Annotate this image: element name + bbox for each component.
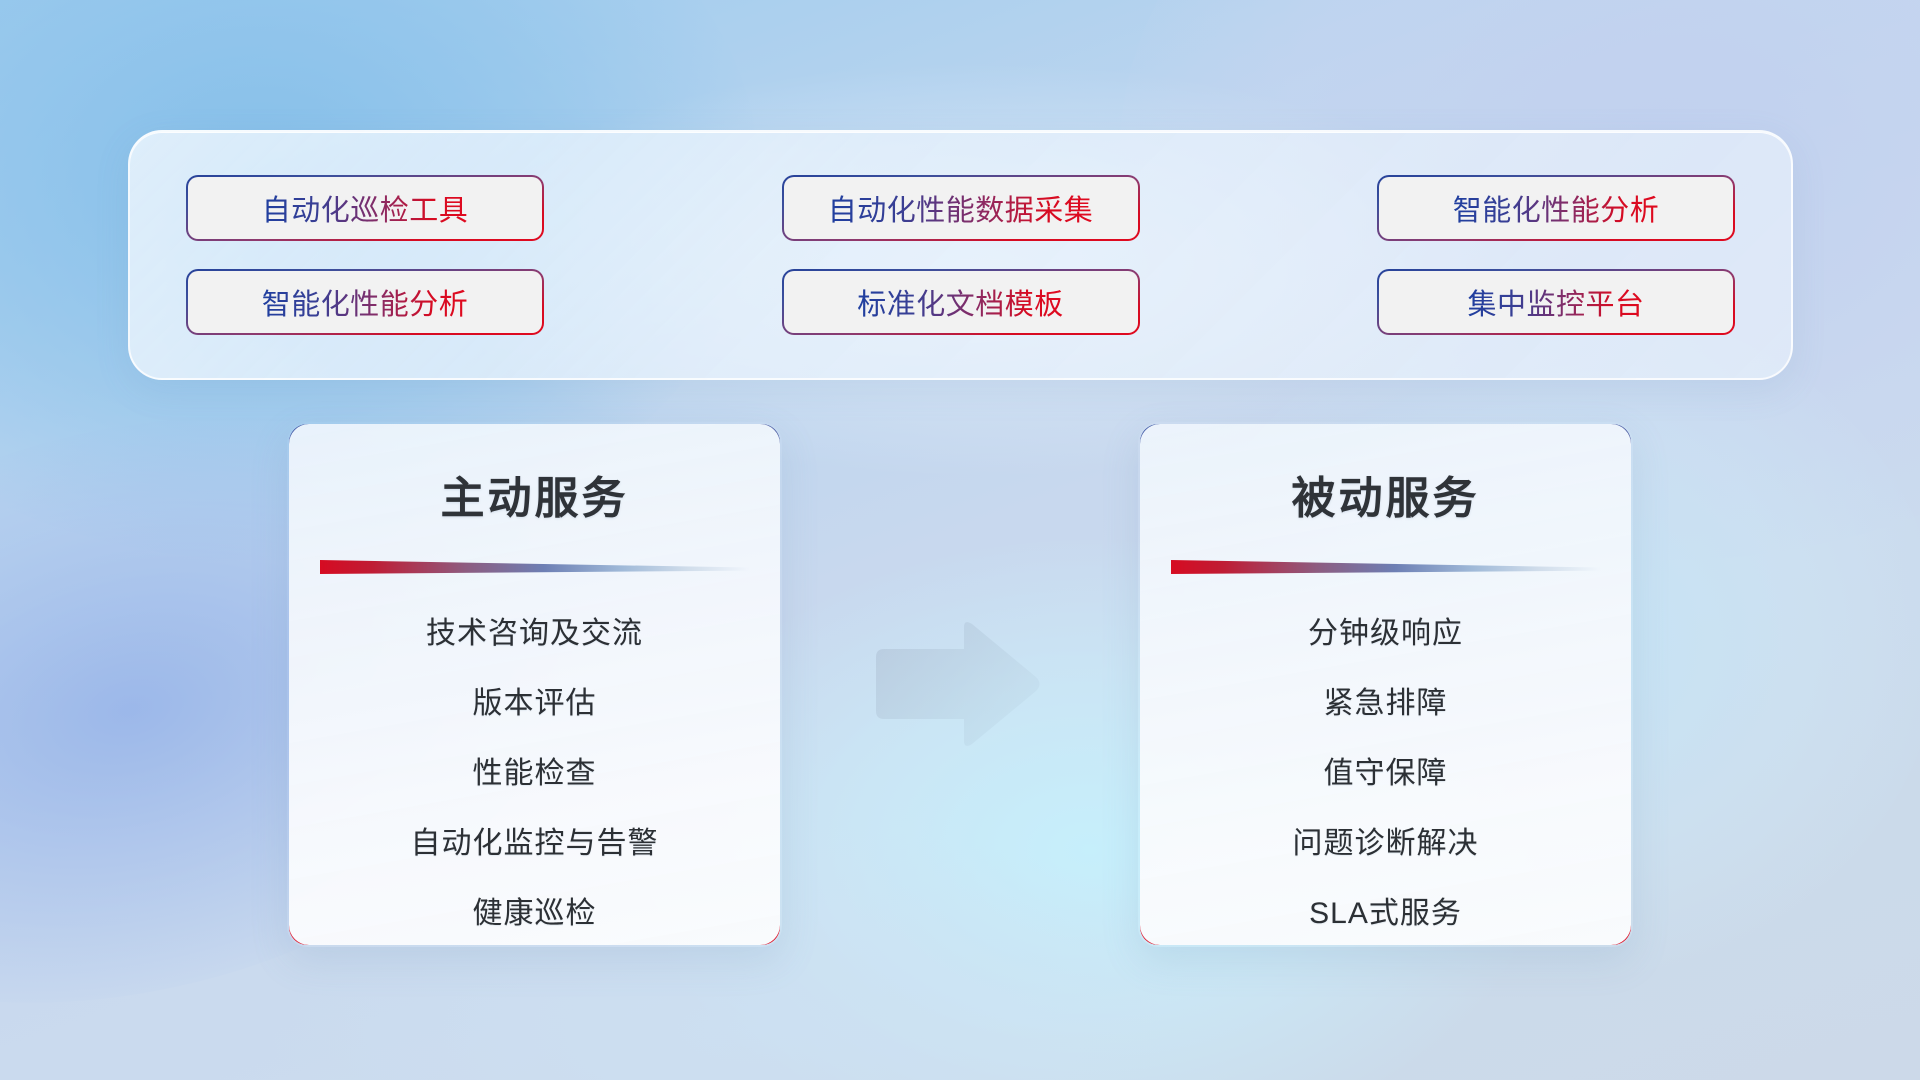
list-item: 值守保障 <box>1324 748 1448 792</box>
capability-tag-auto-perf-collection[interactable]: 自动化性能数据采集 <box>782 175 1140 241</box>
card-title-rule <box>320 560 750 574</box>
capability-tag-smart-perf-analysis[interactable]: 智能化性能分析 <box>1377 175 1735 241</box>
capability-tag-label: 标准化文档模板 <box>857 281 1064 323</box>
list-item: 自动化监控与告警 <box>411 818 659 862</box>
service-card-reactive[interactable]: 被动服务 分钟级响应 紧急排障 值守保障 问题诊断解决 SLA式服务 <box>1138 422 1633 947</box>
card-title: 主动服务 <box>319 462 750 526</box>
capability-row-2: 智能化性能分析 标准化文档模板 集中监控平台 <box>186 269 1735 335</box>
card-item-list: 分钟级响应 紧急排障 值守保障 问题诊断解决 SLA式服务 <box>1170 608 1601 932</box>
capability-tag-label: 自动化性能数据采集 <box>828 187 1094 229</box>
capability-tag-central-monitoring[interactable]: 集中监控平台 <box>1377 269 1735 335</box>
list-item: 技术咨询及交流 <box>426 608 643 652</box>
list-item: 问题诊断解决 <box>1293 818 1479 862</box>
capability-row-1: 自动化巡检工具 自动化性能数据采集 智能化性能分析 <box>186 175 1735 241</box>
flow-arrow <box>872 619 1042 749</box>
service-card-proactive[interactable]: 主动服务 技术咨询及交流 版本评估 性能检查 自动化监控与告警 健康巡检 <box>287 422 782 947</box>
card-title-rule <box>1171 560 1601 574</box>
list-item: SLA式服务 <box>1309 888 1462 932</box>
list-item: 紧急排障 <box>1324 678 1448 722</box>
capability-tag-label: 智能化性能分析 <box>262 281 469 323</box>
list-item: 分钟级响应 <box>1308 608 1463 652</box>
capability-tag-smart-perf-analysis-2[interactable]: 智能化性能分析 <box>186 269 544 335</box>
list-item: 性能检查 <box>473 748 597 792</box>
list-item: 版本评估 <box>473 678 597 722</box>
card-title: 被动服务 <box>1170 462 1601 526</box>
capability-tag-label: 智能化性能分析 <box>1453 187 1660 229</box>
capability-tag-label: 自动化巡检工具 <box>262 187 469 229</box>
list-item: 健康巡检 <box>473 888 597 932</box>
card-item-list: 技术咨询及交流 版本评估 性能检查 自动化监控与告警 健康巡检 <box>319 608 750 932</box>
capability-tag-label: 集中监控平台 <box>1467 281 1644 323</box>
capability-panel: 自动化巡检工具 自动化性能数据采集 智能化性能分析 智能化性能分析 标准化文档模… <box>128 130 1793 380</box>
slide-canvas: 自动化巡检工具 自动化性能数据采集 智能化性能分析 智能化性能分析 标准化文档模… <box>0 0 1920 1080</box>
capability-tag-standard-doc-template[interactable]: 标准化文档模板 <box>782 269 1140 335</box>
arrow-right-icon <box>872 619 1042 749</box>
capability-tag-auto-inspection-tool[interactable]: 自动化巡检工具 <box>186 175 544 241</box>
